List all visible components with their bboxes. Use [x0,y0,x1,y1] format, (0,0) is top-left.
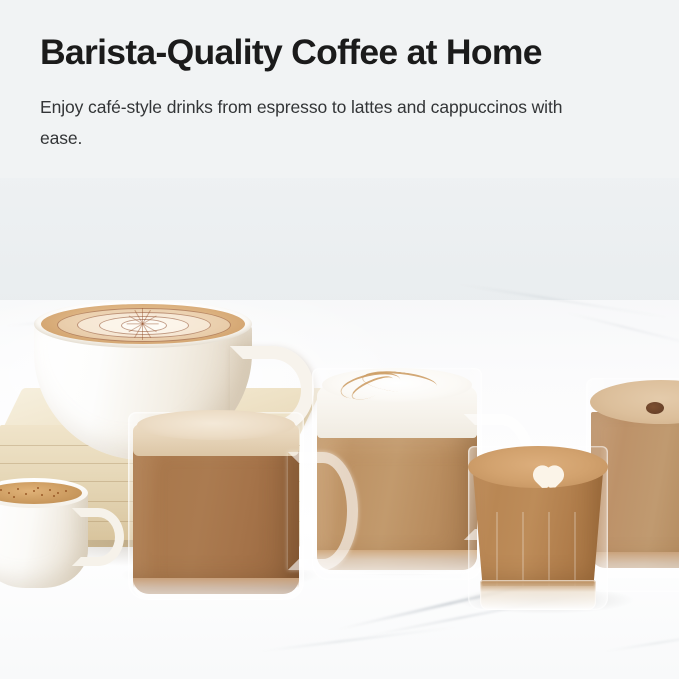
cup-handle [72,508,124,566]
latte-mug-front-left [128,400,304,600]
product-hero-banner: Barista-Quality Coffee at Home Enjoy caf… [0,0,679,679]
coffee-liquid [133,438,299,594]
cocoa-dusting [646,402,664,414]
hero-copy-block: Barista-Quality Coffee at Home Enjoy caf… [0,0,679,178]
foam-surface [322,368,472,402]
heart-latte-art [520,455,558,477]
crema-surface [468,446,608,488]
espresso-cup [0,478,100,588]
rosetta-latte-art [41,304,245,344]
cortado-tumbler [462,438,614,610]
page-subtitle: Enjoy café-style drinks from espresso to… [40,92,600,154]
glass-handle [288,452,358,570]
page-title: Barista-Quality Coffee at Home [40,32,542,73]
glass-base [133,578,299,600]
glass-base [480,580,596,610]
foam-surface [137,410,295,440]
